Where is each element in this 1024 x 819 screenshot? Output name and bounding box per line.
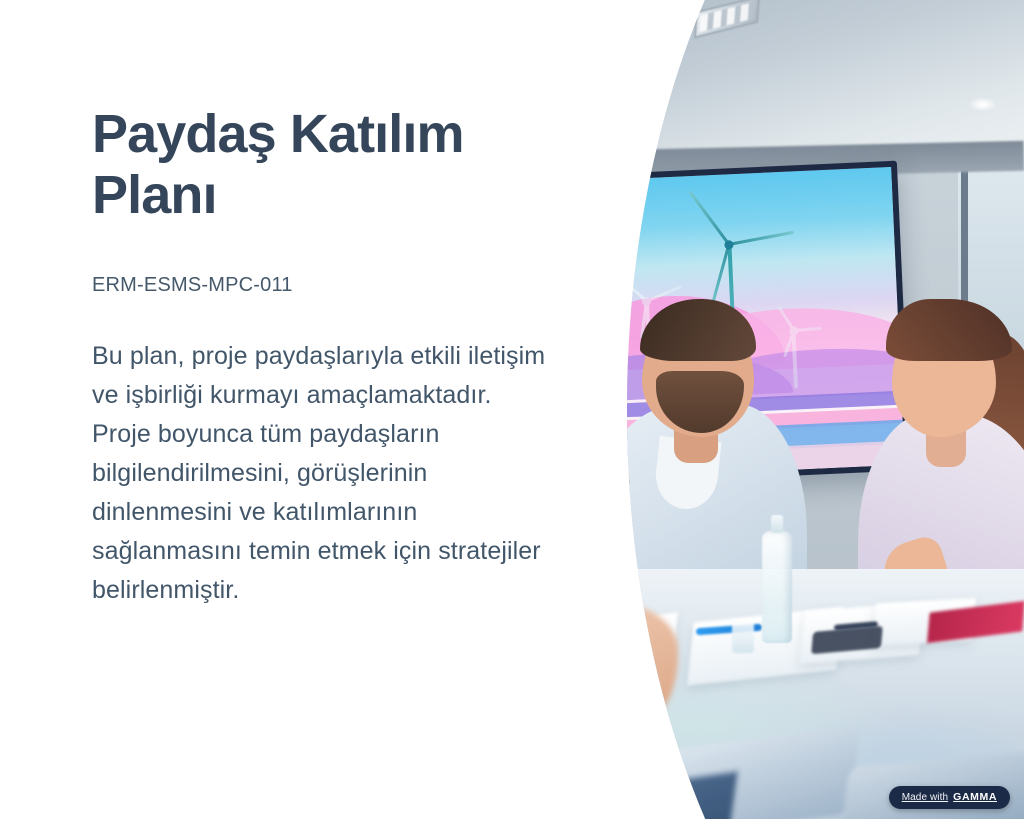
badge-brand-label: GAMMA <box>953 791 997 803</box>
text-column: Paydaş Katılım Planı ERM-ESMS-MPC-011 Bu… <box>92 104 562 610</box>
foreground-dark-object <box>604 772 738 819</box>
ceiling-light-panel-icon <box>694 0 760 39</box>
body-paragraph: Bu plan, proje paydaşlarıyla etkili ilet… <box>92 337 547 610</box>
slide-root: Paydaş Katılım Planı ERM-ESMS-MPC-011 Bu… <box>0 0 1024 819</box>
made-with-gamma-badge[interactable]: Made with GAMMA <box>889 786 1010 809</box>
recessed-downlight-icon <box>970 98 996 111</box>
meeting-room-photo <box>604 0 1024 819</box>
drinking-glass <box>732 619 754 653</box>
foreground-sleeve <box>604 651 644 761</box>
page-title: Paydaş Katılım Planı <box>92 104 512 226</box>
badge-made-with-label: Made with <box>902 792 948 803</box>
conference-table <box>604 569 1024 819</box>
document-code: ERM-ESMS-MPC-011 <box>92 274 562 297</box>
water-bottle <box>762 531 792 643</box>
